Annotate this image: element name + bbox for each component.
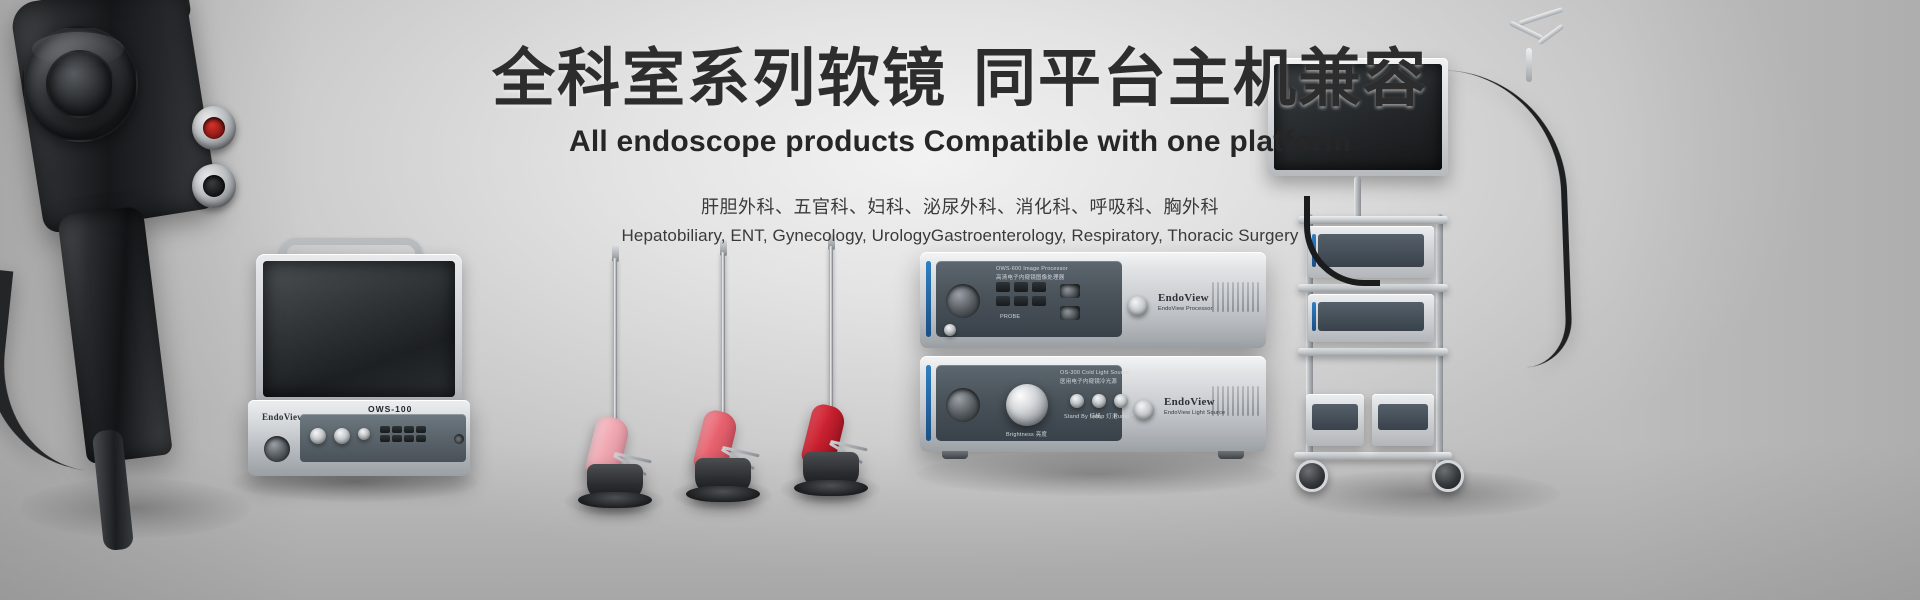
console-keypad[interactable] xyxy=(380,426,426,442)
processor-title-en: OWS-600 Image Processor xyxy=(996,266,1068,272)
lightsource-standby-button[interactable] xyxy=(1070,394,1084,408)
lightsource-brightness-knob[interactable] xyxy=(1006,384,1048,426)
banner-specialties-english: Hepatobiliary, ENT, Gynecology, UrologyG… xyxy=(0,226,1920,246)
cart-shelf-3 xyxy=(1298,348,1448,356)
processor-power-button[interactable] xyxy=(1128,296,1148,316)
processor-sub-label: EndoView Processor xyxy=(1158,306,1213,312)
device-camera-image-processor: OWS-600 Image Processor 高清电子内窥镜图像处理器 PRO… xyxy=(920,252,1266,348)
console-indicator-light xyxy=(454,434,464,444)
lightsource-accent-stripe xyxy=(926,365,931,441)
lightsource-pump-button[interactable] xyxy=(1114,394,1128,408)
marketing-banner: EndoView OWS-100 xyxy=(0,0,1920,600)
lightsource-sub-label: EndoView Light Source xyxy=(1164,410,1225,416)
lightsource-title-zh: 医用电子内窥镜冷光源 xyxy=(1060,377,1117,385)
cart-device-middle xyxy=(1308,294,1434,342)
console-model-label: OWS-100 xyxy=(368,404,412,414)
cart-device-lower-left xyxy=(1306,394,1364,446)
banner-headline: 全科室系列软镜同平台主机兼容 xyxy=(0,46,1920,113)
device-cold-light-source: OS-300 Cold Light Source 医用电子内窥镜冷光源 Brig… xyxy=(920,356,1266,452)
console-knob-c[interactable] xyxy=(358,428,370,440)
console-knob-a[interactable] xyxy=(310,428,326,444)
processor-keypad[interactable] xyxy=(996,282,1046,306)
lightsource-brand-label: EndoView xyxy=(1164,396,1215,408)
cart-shelf-4 xyxy=(1294,452,1452,460)
headline-part-main: 全科室系列软镜 xyxy=(492,44,947,114)
instrument-base-red xyxy=(794,480,868,496)
lightsource-power-button[interactable] xyxy=(1134,400,1154,420)
processor-usb-port[interactable] xyxy=(1060,284,1080,298)
processor-knob[interactable] xyxy=(944,324,956,336)
product-processor-stack: OWS-600 Image Processor 高清电子内窥镜图像处理器 PRO… xyxy=(920,252,1272,462)
product-surgical-instrument-red xyxy=(756,246,906,496)
processor-port-label: PROBE xyxy=(1000,314,1020,320)
endoscope-umbilical-cable xyxy=(0,270,162,476)
instrument-base-salmon xyxy=(686,486,760,502)
instrument-base-pink xyxy=(578,492,652,508)
instrument-shaft-red xyxy=(829,246,833,414)
cart-device-lower-right xyxy=(1372,394,1434,446)
banner-specialties-chinese: 肝胆外科、五官科、妇科、泌尿外科、消化科、呼吸科、胸外科 xyxy=(0,193,1920,219)
processor-vent-grille xyxy=(1212,282,1259,312)
lightsource-lamp-button[interactable] xyxy=(1092,394,1106,408)
processor-accent-stripe xyxy=(926,261,931,337)
lightsource-fiber-port[interactable] xyxy=(946,388,980,422)
processor-brand-label: EndoView xyxy=(1158,292,1209,304)
lightsource-title-en: OS-300 Cold Light Source xyxy=(1060,370,1129,376)
processor-title-zh: 高清电子内窥镜图像处理器 xyxy=(996,273,1064,281)
cart-wheel-right xyxy=(1432,460,1464,492)
processor-scope-connector[interactable] xyxy=(946,284,980,318)
console-knob-b[interactable] xyxy=(334,428,350,444)
instrument-shaft-salmon xyxy=(721,252,725,420)
processor-aux-port[interactable] xyxy=(1060,306,1080,320)
instrument-shaft-pink xyxy=(613,258,617,426)
headline-part-secondary: 同平台主机兼容 xyxy=(973,44,1428,114)
cart-pole-right xyxy=(1436,214,1443,476)
lightsource-knob-label: Brightness 亮度 xyxy=(1006,430,1047,438)
banner-text-block: 全科室系列软镜同平台主机兼容 All endoscope products Co… xyxy=(0,46,1920,246)
banner-subheadline: All endoscope products Compatible with o… xyxy=(0,125,1920,159)
cart-wheel-left xyxy=(1296,460,1328,492)
